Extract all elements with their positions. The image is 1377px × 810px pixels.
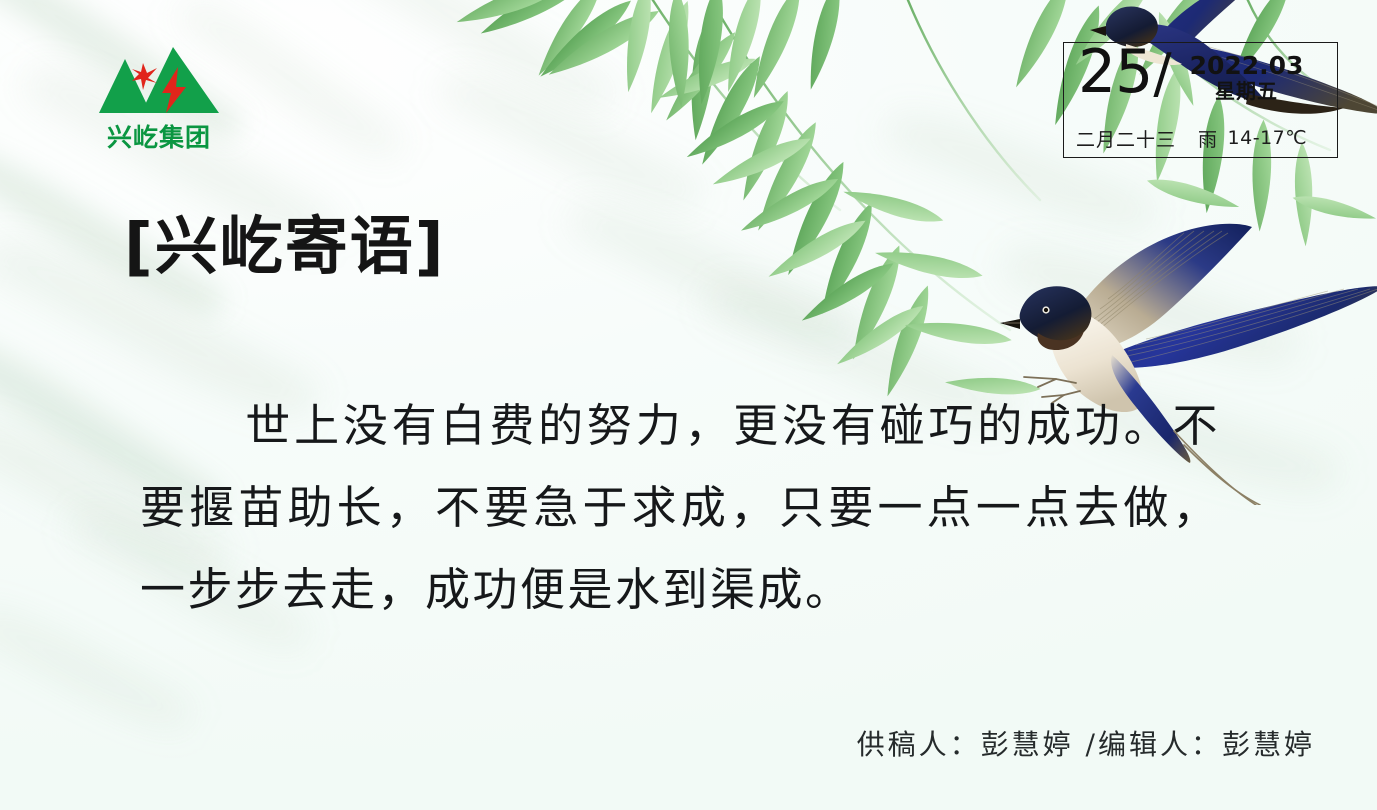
quote-body: 世上没有白费的努力，更没有碰巧的成功。不要揠苗助长，不要急于求成，只要一点一点去… — [140, 385, 1220, 631]
date-card-top-row: 25 / 2022.03 星期五 — [1064, 43, 1337, 119]
leaf-shadow-icon — [1000, 230, 1299, 380]
day-number: 25 — [1078, 45, 1152, 100]
company-logo[interactable]: 兴屹集团 — [96, 45, 222, 160]
weekday: 星期五 — [1190, 79, 1304, 103]
mountain-peaks-icon — [96, 45, 222, 123]
temperature: 14-17℃ — [1228, 127, 1308, 149]
poster-canvas: 兴屹集团 25 / 2022.03 星期五 二月二十三 雨 14-17℃ [兴屹… — [0, 0, 1377, 810]
leaf-shadow-icon — [341, 0, 619, 124]
year-month-group: 2022.03 星期五 — [1172, 43, 1304, 103]
credits-line: 供稿人：彭慧婷 /编辑人：彭慧婷 — [857, 728, 1315, 762]
day-group: 25 / — [1064, 43, 1172, 100]
date-card: 25 / 2022.03 星期五 二月二十三 雨 14-17℃ — [1063, 42, 1338, 158]
weather: 雨 — [1198, 125, 1218, 152]
leaf-shadow-icon — [436, 59, 705, 224]
logo-wordmark: 兴屹集团 — [96, 125, 222, 150]
date-card-bottom-row: 二月二十三 雨 14-17℃ — [1064, 119, 1337, 157]
year-month: 2022.03 — [1190, 53, 1304, 79]
lunar-date: 二月二十三 — [1076, 125, 1176, 152]
page-title: [兴屹寄语] — [124, 215, 446, 278]
day-slash: / — [1153, 48, 1171, 99]
leaf-shadow-icon — [565, 187, 855, 360]
quote-text: 世上没有白费的努力，更没有碰巧的成功。不要揠苗助长，不要急于求成，只要一点一点去… — [140, 399, 1220, 616]
